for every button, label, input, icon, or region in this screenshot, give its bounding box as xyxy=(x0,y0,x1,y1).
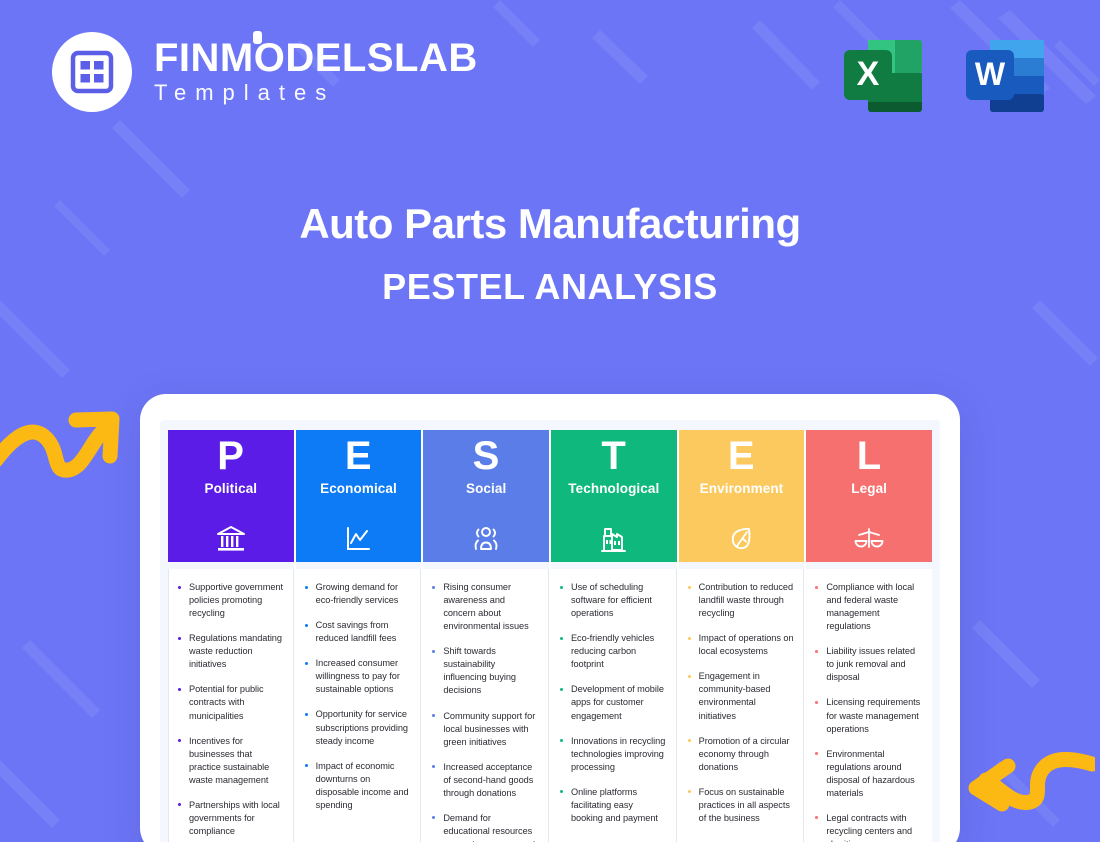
brand-name-text: FINMODELSLAB xyxy=(154,36,478,80)
list-item: Eco-friendly vehicles reducing carbon fo… xyxy=(559,632,667,671)
bullet-dot-icon xyxy=(305,764,308,767)
list-item: Opportunity for service subscriptions pr… xyxy=(304,708,412,747)
finmodelslab-logo-mark xyxy=(52,32,132,112)
bullet-dot-icon xyxy=(305,713,308,716)
bullet-list-economical: Growing demand for eco-friendly services… xyxy=(304,581,412,812)
page-header: FINMODELSLAB Templates X xyxy=(0,0,1100,150)
bullet-dot-icon xyxy=(815,586,818,589)
bullet-dot-icon xyxy=(305,662,308,665)
bullet-dot-icon xyxy=(432,586,435,589)
bullet-list-political: Supportive government policies promoting… xyxy=(177,581,284,838)
bullet-dot-icon xyxy=(432,714,435,717)
column-body-social: Rising consumer awareness and concern ab… xyxy=(423,569,549,842)
column-header-technological[interactable]: T Technological xyxy=(551,430,677,516)
leaf-icon xyxy=(727,525,755,553)
column-body-legal: Compliance with local and federal waste … xyxy=(806,569,932,842)
list-item: Cost savings from reduced landfill fees xyxy=(304,619,412,645)
bullet-dot-icon xyxy=(560,739,563,742)
column-name: Technological xyxy=(568,482,659,496)
bullet-list-legal: Compliance with local and federal waste … xyxy=(814,581,923,842)
list-item: Increased acceptance of second-hand good… xyxy=(431,761,539,800)
column-letter: P xyxy=(217,436,244,476)
list-item: Environmental regulations around disposa… xyxy=(814,748,923,800)
word-icon[interactable]: W xyxy=(958,28,1052,122)
pestel-column-economical: E Economical Growing demand for eco-frie… xyxy=(296,430,422,842)
bullet-dot-icon xyxy=(178,803,181,806)
bullet-dot-icon xyxy=(815,816,818,819)
bullet-dot-icon xyxy=(305,586,308,589)
pestel-table: P Political Supportive xyxy=(168,430,932,842)
bullet-dot-icon xyxy=(560,586,563,589)
brand-o-accent-icon xyxy=(253,31,262,44)
squiggle-arrow-down-left-icon xyxy=(960,752,1095,842)
column-icon-cell-economical xyxy=(296,516,422,562)
list-item: Growing demand for eco-friendly services xyxy=(304,581,412,607)
brand-wordmark: FINMODELSLAB Templates xyxy=(154,38,478,106)
list-item: Engagement in community-based environmen… xyxy=(687,670,795,722)
column-body-technological: Use of scheduling software for efficient… xyxy=(551,569,677,842)
people-group-icon xyxy=(471,525,501,553)
scales-balance-icon xyxy=(854,525,884,553)
column-icon-cell-political xyxy=(168,516,294,562)
bullet-dot-icon xyxy=(432,650,435,653)
list-item: Demand for educational resources on wast… xyxy=(431,812,539,842)
list-item: Rising consumer awareness and concern ab… xyxy=(431,581,539,633)
bullet-dot-icon xyxy=(688,790,691,793)
bullet-dot-icon xyxy=(815,701,818,704)
column-gap xyxy=(296,562,422,569)
grid-squares-icon xyxy=(70,50,114,94)
list-item: Potential for public contracts with muni… xyxy=(177,683,284,722)
column-icon-cell-environment xyxy=(679,516,805,562)
column-letter: E xyxy=(345,436,372,476)
page-subtitle: PESTEL ANALYSIS xyxy=(0,265,1100,308)
bullet-dot-icon xyxy=(815,752,818,755)
bullet-dot-icon xyxy=(688,586,691,589)
list-item: Focus on sustainable practices in all as… xyxy=(687,786,795,825)
bullet-dot-icon xyxy=(178,688,181,691)
list-item: Regulations mandating waste reduction in… xyxy=(177,632,284,671)
bullet-dot-icon xyxy=(432,816,435,819)
list-item: Impact of economic downturns on disposab… xyxy=(304,760,412,812)
list-item: Compliance with local and federal waste … xyxy=(814,581,923,633)
bullet-dot-icon xyxy=(688,675,691,678)
column-icon-cell-technological xyxy=(551,516,677,562)
column-header-economical[interactable]: E Economical xyxy=(296,430,422,516)
office-format-icons: X W xyxy=(836,28,1052,122)
list-item: Use of scheduling software for efficient… xyxy=(559,581,667,620)
word-letter: W xyxy=(975,56,1006,92)
list-item: Development of mobile apps for customer … xyxy=(559,683,667,722)
column-gap xyxy=(168,562,294,569)
bullet-dot-icon xyxy=(178,739,181,742)
line-chart-icon xyxy=(344,525,372,553)
column-name: Legal xyxy=(851,482,887,496)
column-gap xyxy=(551,562,677,569)
bullet-dot-icon xyxy=(560,637,563,640)
column-name: Environment xyxy=(700,482,784,496)
list-item: Impact of operations on local ecosystems xyxy=(687,632,795,658)
bullet-dot-icon xyxy=(688,637,691,640)
bullet-list-social: Rising consumer awareness and concern ab… xyxy=(431,581,539,842)
bank-columns-icon xyxy=(216,525,246,553)
bullet-dot-icon xyxy=(178,637,181,640)
list-item: Partnerships with local governments for … xyxy=(177,799,284,838)
list-item: Innovations in recycling technologies im… xyxy=(559,735,667,774)
list-item: Supportive government policies promoting… xyxy=(177,581,284,620)
excel-letter: X xyxy=(857,55,880,93)
list-item: Contribution to reduced landfill waste t… xyxy=(687,581,795,620)
list-item: Online platforms facilitating easy booki… xyxy=(559,786,667,825)
bullet-dot-icon xyxy=(688,739,691,742)
column-letter: T xyxy=(601,436,626,476)
column-gap xyxy=(423,562,549,569)
list-item: Liability issues related to junk removal… xyxy=(814,645,923,684)
tablet-device-frame: P Political Supportive xyxy=(140,394,960,842)
column-icon-cell-social xyxy=(423,516,549,562)
bullet-dot-icon xyxy=(432,765,435,768)
column-body-political: Supportive government policies promoting… xyxy=(168,569,294,842)
column-header-political[interactable]: P Political xyxy=(168,430,294,516)
brand-logo[interactable]: FINMODELSLAB Templates xyxy=(52,32,478,112)
bullet-list-environment: Contribution to reduced landfill waste t… xyxy=(687,581,795,825)
bullet-dot-icon xyxy=(560,790,563,793)
column-header-social[interactable]: S Social xyxy=(423,430,549,516)
column-letter: S xyxy=(473,436,500,476)
pestel-column-political: P Political Supportive xyxy=(168,430,294,842)
bullet-list-technological: Use of scheduling software for efficient… xyxy=(559,581,667,825)
column-name: Political xyxy=(204,482,257,496)
bullet-dot-icon xyxy=(560,688,563,691)
title-block: Auto Parts Manufacturing PESTEL ANALYSIS xyxy=(0,198,1100,308)
list-item: Promotion of a circular economy through … xyxy=(687,735,795,774)
factory-icon xyxy=(600,525,628,553)
bullet-dot-icon xyxy=(178,586,181,589)
column-gap xyxy=(806,562,932,569)
column-header-environment[interactable]: E Environment xyxy=(679,430,805,516)
column-body-environment: Contribution to reduced landfill waste t… xyxy=(679,569,805,842)
column-icon-cell-legal xyxy=(806,516,932,562)
pestel-column-social: S Social Rising consum xyxy=(423,430,549,842)
column-name: Social xyxy=(466,482,506,496)
pestel-column-legal: L Legal Compliance wit xyxy=(806,430,932,842)
page-title: Auto Parts Manufacturing xyxy=(0,198,1100,251)
bullet-dot-icon xyxy=(305,624,308,627)
column-gap xyxy=(679,562,805,569)
squiggle-arrow-up-right-icon xyxy=(0,398,129,493)
bullet-dot-icon xyxy=(815,650,818,653)
column-name: Economical xyxy=(320,482,397,496)
list-item: Legal contracts with recycling centers a… xyxy=(814,812,923,842)
excel-icon[interactable]: X xyxy=(836,28,930,122)
list-item: Licensing requirements for waste managem… xyxy=(814,696,923,735)
tablet-screen: P Political Supportive xyxy=(160,420,940,842)
column-letter: E xyxy=(728,436,755,476)
list-item: Community support for local businesses w… xyxy=(431,710,539,749)
list-item: Shift towards sustainability influencing… xyxy=(431,645,539,697)
column-letter: L xyxy=(857,436,882,476)
column-header-legal[interactable]: L Legal xyxy=(806,430,932,516)
pestel-column-technological: T Technological xyxy=(551,430,677,842)
brand-name: FINMODELSLAB xyxy=(154,38,478,78)
pestel-column-environment: E Environment Contribution to reduced la… xyxy=(679,430,805,842)
column-body-economical: Growing demand for eco-friendly services… xyxy=(296,569,422,842)
brand-tagline: Templates xyxy=(154,80,478,106)
list-item: Incentives for businesses that practice … xyxy=(177,735,284,787)
list-item: Increased consumer willingness to pay fo… xyxy=(304,657,412,696)
